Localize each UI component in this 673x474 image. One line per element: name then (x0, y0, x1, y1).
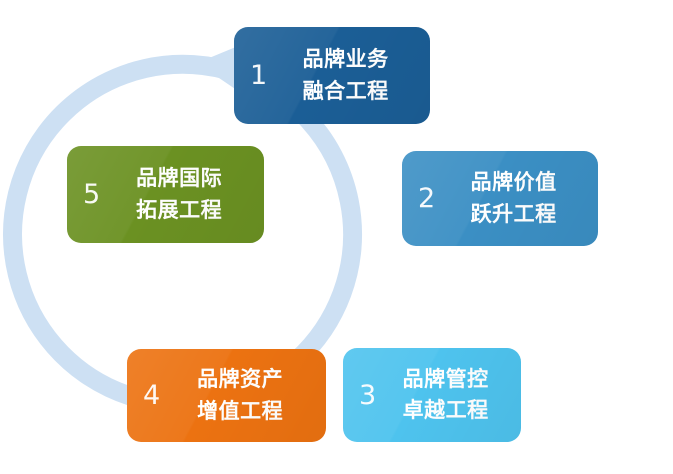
cycle-node-2[interactable]: 2 品牌价值 跃升工程 (402, 151, 598, 246)
cycle-node-5-line1: 品牌国际 (136, 163, 222, 195)
cycle-node-1[interactable]: 1 品牌业务 融合工程 (234, 27, 430, 124)
cycle-node-4[interactable]: 4 品牌资产 增值工程 (127, 349, 326, 442)
cycle-node-2-number: 2 (402, 185, 439, 212)
cycle-node-4-line1: 品牌资产 (197, 364, 283, 396)
cycle-node-3-line1: 品牌管控 (403, 364, 489, 396)
cycle-node-1-number: 1 (234, 62, 271, 89)
cycle-node-4-line2: 增值工程 (197, 396, 283, 428)
cycle-node-5-line2: 拓展工程 (136, 195, 222, 227)
diagram-canvas: 1 品牌业务 融合工程 2 品牌价值 跃升工程 3 品牌管控 卓越工程 4 品牌… (0, 0, 673, 474)
cycle-node-2-label: 品牌价值 跃升工程 (439, 167, 598, 230)
cycle-node-4-label: 品牌资产 增值工程 (164, 364, 326, 427)
cycle-node-3[interactable]: 3 品牌管控 卓越工程 (343, 348, 521, 442)
cycle-node-5[interactable]: 5 品牌国际 拓展工程 (67, 146, 264, 243)
cycle-node-3-number: 3 (343, 382, 380, 409)
cycle-node-1-line1: 品牌业务 (303, 44, 389, 76)
cycle-node-4-number: 4 (127, 382, 164, 409)
cycle-node-3-line2: 卓越工程 (403, 395, 489, 427)
cycle-node-1-line2: 融合工程 (303, 76, 389, 108)
cycle-node-2-line1: 品牌价值 (471, 167, 557, 199)
cycle-node-3-label: 品牌管控 卓越工程 (380, 364, 521, 427)
cycle-node-2-line2: 跃升工程 (471, 199, 557, 231)
cycle-node-5-label: 品牌国际 拓展工程 (104, 163, 264, 226)
cycle-node-1-label: 品牌业务 融合工程 (271, 44, 430, 107)
cycle-node-5-number: 5 (67, 181, 104, 208)
